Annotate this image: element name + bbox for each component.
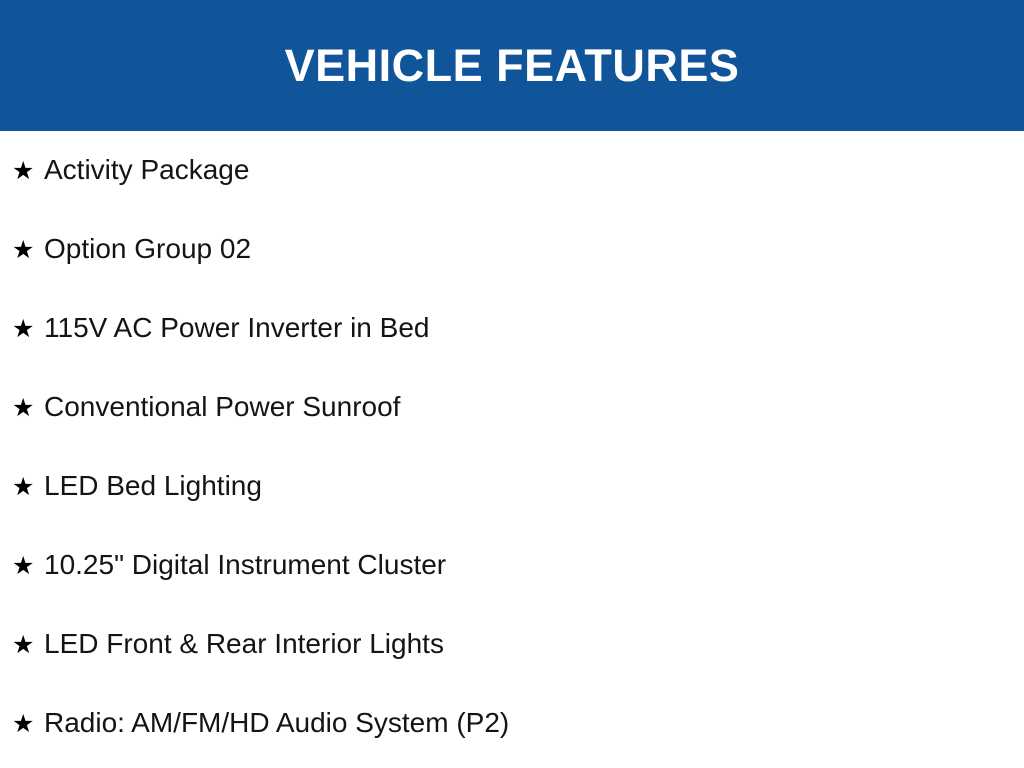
features-list: ★ Activity Package ★ Option Group 02 ★ 1… xyxy=(0,131,1024,768)
feature-label: Radio: AM/FM/HD Audio System (P2) xyxy=(44,708,509,739)
star-bullet-icon: ★ xyxy=(12,316,34,341)
feature-label: LED Front & Rear Interior Lights xyxy=(44,629,444,660)
list-item: ★ 10.25" Digital Instrument Cluster xyxy=(0,526,1024,605)
feature-label: Conventional Power Sunroof xyxy=(44,392,400,423)
feature-label: Activity Package xyxy=(44,155,249,186)
list-item: ★ LED Front & Rear Interior Lights xyxy=(0,605,1024,684)
list-item: ★ Activity Package xyxy=(0,131,1024,210)
feature-label: LED Bed Lighting xyxy=(44,471,262,502)
vehicle-features-page: VEHICLE FEATURES ★ Activity Package ★ Op… xyxy=(0,0,1024,768)
star-bullet-icon: ★ xyxy=(12,237,34,262)
feature-label: 10.25" Digital Instrument Cluster xyxy=(44,550,446,581)
feature-label: Option Group 02 xyxy=(44,234,251,265)
list-item: ★ Option Group 02 xyxy=(0,210,1024,289)
star-bullet-icon: ★ xyxy=(12,474,34,499)
list-item: ★ LED Bed Lighting xyxy=(0,447,1024,526)
page-title: VEHICLE FEATURES xyxy=(285,43,740,88)
page-header-banner: VEHICLE FEATURES xyxy=(0,0,1024,131)
star-bullet-icon: ★ xyxy=(12,158,34,183)
star-bullet-icon: ★ xyxy=(12,711,34,736)
star-bullet-icon: ★ xyxy=(12,632,34,657)
list-item: ★ Radio: AM/FM/HD Audio System (P2) xyxy=(0,684,1024,763)
star-bullet-icon: ★ xyxy=(12,553,34,578)
list-item: ★ 115V AC Power Inverter in Bed xyxy=(0,289,1024,368)
star-bullet-icon: ★ xyxy=(12,395,34,420)
list-item: ★ Conventional Power Sunroof xyxy=(0,368,1024,447)
feature-label: 115V AC Power Inverter in Bed xyxy=(44,313,429,344)
